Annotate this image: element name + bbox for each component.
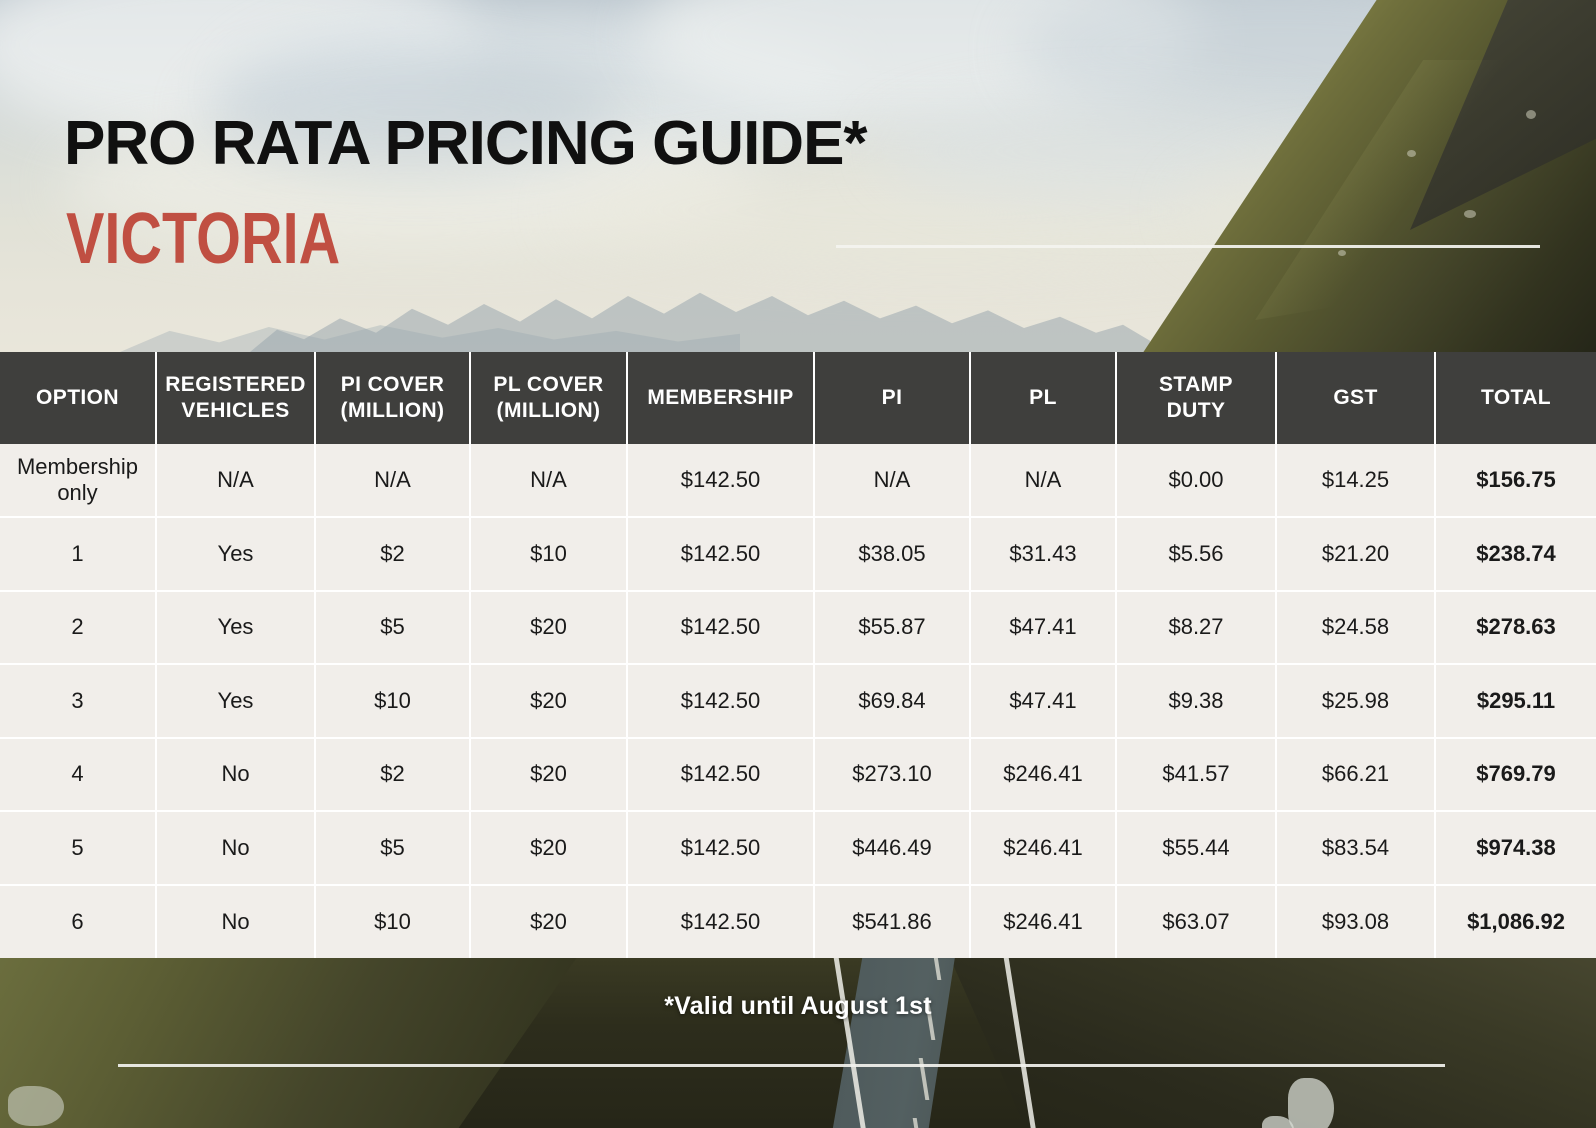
hero-image-bottom: [0, 958, 1596, 1128]
cell-stamp-duty: $0.00: [1116, 444, 1276, 517]
rock-speck: [1407, 150, 1416, 157]
cell-pl-cover: $20: [470, 885, 627, 958]
column-header-pl-cover: PL COVER (MILLION): [470, 352, 627, 444]
decorative-rule-top: [836, 245, 1540, 248]
cell-option: Membership only: [0, 444, 156, 517]
table-row: 6 No $10 $20 $142.50 $541.86 $246.41 $63…: [0, 885, 1596, 958]
cell-membership: $142.50: [627, 885, 814, 958]
cell-total: $278.63: [1435, 591, 1596, 664]
cell-option: 3: [0, 664, 156, 737]
cell-registered-vehicles: No: [156, 738, 315, 811]
cell-pl-cover: $20: [470, 591, 627, 664]
column-header-pi-cover: PI COVER (MILLION): [315, 352, 470, 444]
cell-gst: $25.98: [1276, 664, 1435, 737]
decorative-rule-bottom: [118, 1064, 1445, 1067]
column-header-stamp-duty: STAMP DUTY: [1116, 352, 1276, 444]
cell-total: $1,086.92: [1435, 885, 1596, 958]
header-line: REGISTERED: [165, 373, 306, 396]
cell-gst: $66.21: [1276, 738, 1435, 811]
snow-patch: [8, 1086, 64, 1126]
cell-pi-cover: $5: [315, 811, 470, 884]
cell-pi-cover: $10: [315, 885, 470, 958]
cell-gst: $21.20: [1276, 517, 1435, 590]
cell-pi: $38.05: [814, 517, 970, 590]
cell-pi-cover: $2: [315, 517, 470, 590]
header-line: GST: [1333, 386, 1377, 409]
column-header-registered-vehicles: REGISTERED VEHICLES: [156, 352, 315, 444]
cell-option: 6: [0, 885, 156, 958]
roadside-terrain-right: [876, 958, 1596, 1128]
cell-gst: $24.58: [1276, 591, 1435, 664]
roadside-terrain-left: [0, 958, 960, 1128]
table-row: 5 No $5 $20 $142.50 $446.49 $246.41 $55.…: [0, 811, 1596, 884]
cell-gst: $93.08: [1276, 885, 1435, 958]
cell-pl: $47.41: [970, 591, 1116, 664]
rock-speck: [1526, 110, 1536, 119]
cell-registered-vehicles: Yes: [156, 591, 315, 664]
cell-pl: $246.41: [970, 811, 1116, 884]
header-line: (MILLION): [497, 399, 601, 422]
column-header-gst: GST: [1276, 352, 1435, 444]
cell-membership: $142.50: [627, 444, 814, 517]
pricing-table-container: OPTION REGISTERED VEHICLES PI COVER (MIL…: [0, 352, 1596, 958]
page-title: PRO RATA PRICING GUIDE*: [64, 112, 867, 175]
cell-registered-vehicles: No: [156, 811, 315, 884]
cell-pl-cover: $10: [470, 517, 627, 590]
cell-total: $974.38: [1435, 811, 1596, 884]
table-header: OPTION REGISTERED VEHICLES PI COVER (MIL…: [0, 352, 1596, 444]
cell-pl: N/A: [970, 444, 1116, 517]
header-line: PI: [882, 386, 903, 409]
header-line: TOTAL: [1481, 386, 1551, 409]
state-subtitle: VICTORIA: [66, 203, 340, 275]
cell-pi-cover: N/A: [315, 444, 470, 517]
cell-pl-cover: N/A: [470, 444, 627, 517]
table-row: 3 Yes $10 $20 $142.50 $69.84 $47.41 $9.3…: [0, 664, 1596, 737]
table-row: 2 Yes $5 $20 $142.50 $55.87 $47.41 $8.27…: [0, 591, 1596, 664]
pricing-table: OPTION REGISTERED VEHICLES PI COVER (MIL…: [0, 352, 1596, 958]
cell-stamp-duty: $5.56: [1116, 517, 1276, 590]
pricing-guide-poster: PRO RATA PRICING GUIDE* VICTORIA OPTION …: [0, 0, 1596, 1128]
table-body: Membership only N/A N/A N/A $142.50 N/A …: [0, 444, 1596, 958]
cell-pi-cover: $2: [315, 738, 470, 811]
column-header-total: TOTAL: [1435, 352, 1596, 444]
header-line: MEMBERSHIP: [647, 386, 793, 409]
cell-registered-vehicles: No: [156, 885, 315, 958]
cell-membership: $142.50: [627, 591, 814, 664]
cell-registered-vehicles: Yes: [156, 517, 315, 590]
rock-speck: [1338, 250, 1346, 256]
cell-pi: N/A: [814, 444, 970, 517]
header-line: PL COVER: [493, 373, 603, 396]
cell-total: $295.11: [1435, 664, 1596, 737]
column-header-option: OPTION: [0, 352, 156, 444]
cell-pi-cover: $10: [315, 664, 470, 737]
cell-pi: $446.49: [814, 811, 970, 884]
cell-pl: $47.41: [970, 664, 1116, 737]
header-line: (MILLION): [341, 399, 445, 422]
table-header-row: OPTION REGISTERED VEHICLES PI COVER (MIL…: [0, 352, 1596, 444]
cell-pi: $69.84: [814, 664, 970, 737]
cell-option: 1: [0, 517, 156, 590]
column-header-membership: MEMBERSHIP: [627, 352, 814, 444]
header-line: PI COVER: [341, 373, 445, 396]
cell-membership: $142.50: [627, 738, 814, 811]
cell-pl-cover: $20: [470, 664, 627, 737]
cell-total: $769.79: [1435, 738, 1596, 811]
column-header-pl: PL: [970, 352, 1116, 444]
cell-registered-vehicles: Yes: [156, 664, 315, 737]
cell-gst: $83.54: [1276, 811, 1435, 884]
cell-gst: $14.25: [1276, 444, 1435, 517]
cell-pl: $246.41: [970, 885, 1116, 958]
column-header-pi: PI: [814, 352, 970, 444]
validity-footnote: *Valid until August 1st: [0, 992, 1596, 1021]
cell-pi: $273.10: [814, 738, 970, 811]
header-line: OPTION: [36, 386, 119, 409]
cell-pl: $31.43: [970, 517, 1116, 590]
cell-pl-cover: $20: [470, 738, 627, 811]
table-row: Membership only N/A N/A N/A $142.50 N/A …: [0, 444, 1596, 517]
cell-stamp-duty: $9.38: [1116, 664, 1276, 737]
cell-membership: $142.50: [627, 811, 814, 884]
cell-total: $156.75: [1435, 444, 1596, 517]
cell-stamp-duty: $41.57: [1116, 738, 1276, 811]
cell-pl-cover: $20: [470, 811, 627, 884]
cell-pi: $541.86: [814, 885, 970, 958]
cell-pi: $55.87: [814, 591, 970, 664]
header-line: PL: [1029, 386, 1057, 409]
cell-registered-vehicles: N/A: [156, 444, 315, 517]
header-line: STAMP: [1159, 373, 1233, 396]
rock-speck: [1464, 210, 1476, 218]
cell-pl: $246.41: [970, 738, 1116, 811]
table-row: 4 No $2 $20 $142.50 $273.10 $246.41 $41.…: [0, 738, 1596, 811]
table-row: 1 Yes $2 $10 $142.50 $38.05 $31.43 $5.56…: [0, 517, 1596, 590]
header-line: DUTY: [1167, 399, 1226, 422]
header-line: VEHICLES: [181, 399, 289, 422]
distant-mountain-ridge: [250, 272, 1150, 352]
cell-total: $238.74: [1435, 517, 1596, 590]
cell-stamp-duty: $55.44: [1116, 811, 1276, 884]
cell-option: 5: [0, 811, 156, 884]
cell-option: 2: [0, 591, 156, 664]
cell-membership: $142.50: [627, 517, 814, 590]
cell-stamp-duty: $8.27: [1116, 591, 1276, 664]
cell-pi-cover: $5: [315, 591, 470, 664]
cell-membership: $142.50: [627, 664, 814, 737]
cell-option: 4: [0, 738, 156, 811]
cell-stamp-duty: $63.07: [1116, 885, 1276, 958]
